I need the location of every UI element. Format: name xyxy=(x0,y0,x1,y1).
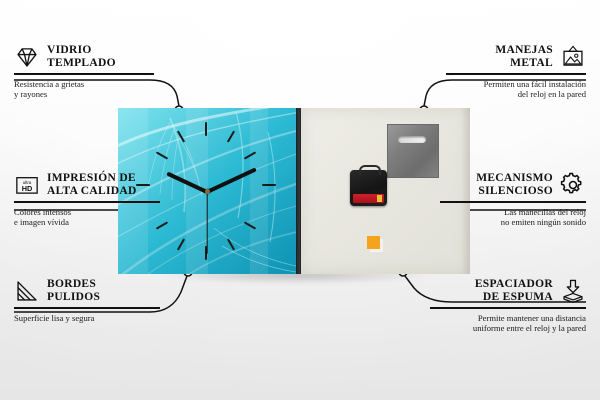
callout-divider xyxy=(14,201,160,203)
clock-second-hand xyxy=(206,192,207,254)
callout-title: VIDRIO TEMPLADO xyxy=(47,44,116,70)
callout-description: Resistencia a grietas y rayones xyxy=(14,79,154,100)
foam-spacer xyxy=(367,236,380,249)
gear-icon xyxy=(560,172,586,198)
callout-divider xyxy=(14,73,154,75)
callout-header: VIDRIO TEMPLADO xyxy=(14,44,154,70)
clock-center-pin xyxy=(205,189,210,194)
callout-description: Superficie lisa y segura xyxy=(14,313,160,323)
callout-header: MECANISMO SILENCIOSO xyxy=(440,172,586,198)
callout-description: Permite mantener una distancia uniforme … xyxy=(430,313,586,334)
battery-label xyxy=(353,194,384,203)
product-clock xyxy=(118,108,470,274)
callout-divider xyxy=(430,307,586,309)
callout-header: ESPACIADOR DE ESPUMA xyxy=(430,278,586,304)
hanger-slot xyxy=(398,136,426,143)
callout-divider xyxy=(440,201,586,203)
callout-header: BORDES PULIDOS xyxy=(14,278,160,304)
metal-hanger-plate xyxy=(387,124,439,178)
arrow-down-pad-icon xyxy=(560,278,586,304)
callout-title: MANEJAS METAL xyxy=(495,44,553,70)
callout-header: ultra HD IMPRESIÓN DE ALTA CALIDAD xyxy=(14,172,160,198)
callout-impresion-alta-calidad[interactable]: ultra HD IMPRESIÓN DE ALTA CALIDAD Color… xyxy=(14,172,160,227)
callout-description: Permiten una fácil instalación del reloj… xyxy=(446,79,586,100)
callout-description: Colores intensos e imagen vívida xyxy=(14,207,160,228)
callout-title: IMPRESIÓN DE ALTA CALIDAD xyxy=(47,172,137,198)
callout-description: Las manecillas del reloj no emiten ningú… xyxy=(440,207,586,228)
ultra-hd-icon: ultra HD xyxy=(14,172,40,198)
callout-divider xyxy=(14,307,160,309)
svg-text:HD: HD xyxy=(22,184,33,193)
clock-tick-3 xyxy=(262,184,276,186)
callout-espaciador-de-espuma[interactable]: ESPACIADOR DE ESPUMA Permite mantener un… xyxy=(430,278,586,333)
mechanism-hook xyxy=(359,165,381,175)
callout-manejas-metal[interactable]: MANEJAS METAL Permiten una fácil instala… xyxy=(446,44,586,99)
callout-mecanismo-silencioso[interactable]: MECANISMO SILENCIOSO Las manecillas del … xyxy=(440,172,586,227)
callout-bordes-pulidos[interactable]: BORDES PULIDOS Superficie lisa y segura xyxy=(14,278,160,323)
polished-edges-icon xyxy=(14,278,40,304)
callout-title: ESPACIADOR DE ESPUMA xyxy=(475,278,553,304)
callout-vidrio-templado[interactable]: VIDRIO TEMPLADO Resistencia a grietas y … xyxy=(14,44,154,99)
callout-header: MANEJAS METAL xyxy=(446,44,586,70)
callout-title: MECANISMO SILENCIOSO xyxy=(476,172,553,198)
diamond-icon xyxy=(14,44,40,70)
clock-tick-12 xyxy=(205,122,207,136)
picture-frame-hanging-icon xyxy=(560,44,586,70)
clock-mechanism-box xyxy=(350,170,387,206)
callout-title: BORDES PULIDOS xyxy=(47,278,100,304)
infographic-canvas: VIDRIO TEMPLADO Resistencia a grietas y … xyxy=(0,0,600,400)
callout-divider xyxy=(446,73,586,75)
